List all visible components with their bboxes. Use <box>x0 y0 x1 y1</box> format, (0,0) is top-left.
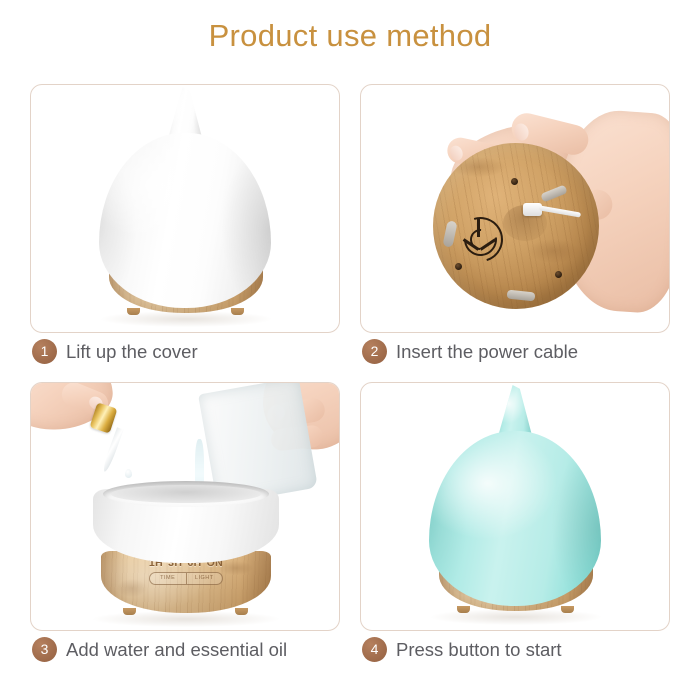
screw-hole <box>555 271 562 278</box>
diffuser-cover-lit[interactable] <box>429 431 601 606</box>
scene-dropper-and-water-cup: 1H 3H 6H ON TIME LIGHT <box>31 383 339 630</box>
step-caption-3: 3 Add water and essential oil <box>32 637 287 662</box>
rubber-foot-pad <box>442 220 457 248</box>
step-caption-text-3: Add water and essential oil <box>66 639 287 661</box>
dome-shading <box>429 431 601 606</box>
floor-shadow <box>93 611 279 627</box>
dome-shading <box>99 133 271 308</box>
step-cell-4: 1H 3H 6H ON TIME LIGHT <box>360 382 670 632</box>
scene-hands-base-bottom-power-cable <box>361 85 669 332</box>
step-caption-2: 2 Insert the power cable <box>362 339 578 364</box>
step-image-card-4: 1H 3H 6H ON TIME LIGHT <box>360 382 670 631</box>
step-number-badge-3: 3 <box>32 637 57 662</box>
step-caption-text-4: Press button to start <box>396 639 562 661</box>
diffuser-cover[interactable] <box>99 133 271 308</box>
fan-vent-icon <box>458 217 504 263</box>
floor-shadow <box>101 311 271 327</box>
oil-pipette <box>101 427 123 473</box>
step-image-card-2 <box>360 84 670 333</box>
step-image-card-1: 1H 3H 6H ON TIME LIGHT <box>30 84 340 333</box>
wood-knot <box>451 157 505 177</box>
wood-knot <box>529 239 579 263</box>
step-cell-2: 2 Insert the power cable <box>360 84 670 334</box>
screw-hole <box>511 178 518 185</box>
step-caption-text-2: Insert the power cable <box>396 341 578 363</box>
vent-spoke <box>477 219 480 237</box>
step-image-card-3: 1H 3H 6H ON TIME LIGHT <box>30 382 340 631</box>
rubber-foot-pad <box>507 290 536 302</box>
screw-hole <box>455 263 462 270</box>
light-button[interactable]: LIGHT <box>186 572 224 585</box>
button-row: TIME LIGHT <box>149 572 223 585</box>
tank-interior <box>111 485 261 503</box>
product-instruction-page: Product use method <box>0 0 700 700</box>
step-caption-text-1: Lift up the cover <box>66 341 198 363</box>
step-number-badge-2: 2 <box>362 339 387 364</box>
step-number-badge-1: 1 <box>32 339 57 364</box>
time-button[interactable]: TIME <box>149 572 186 585</box>
steps-grid: 1H 3H 6H ON TIME LIGHT <box>30 84 670 684</box>
scene-white-diffuser-closed: 1H 3H 6H ON TIME LIGHT <box>31 85 339 332</box>
oil-droplet <box>125 469 132 478</box>
step-caption-4: 4 Press button to start <box>362 637 562 662</box>
step-cell-1: 1H 3H 6H ON TIME LIGHT <box>30 84 340 334</box>
step-cell-3: 1H 3H 6H ON TIME LIGHT <box>30 382 340 632</box>
rubber-foot-pad <box>540 184 567 202</box>
diffuser-base-bottom <box>433 143 599 309</box>
dome-body <box>429 431 601 606</box>
scene-diffuser-glowing-cyan: 1H 3H 6H ON TIME LIGHT <box>361 383 669 630</box>
floor-shadow <box>431 609 601 625</box>
page-title: Product use method <box>0 18 700 54</box>
step-caption-1: 1 Lift up the cover <box>32 339 198 364</box>
step-number-badge-4: 4 <box>362 637 387 662</box>
dome-body <box>99 133 271 308</box>
